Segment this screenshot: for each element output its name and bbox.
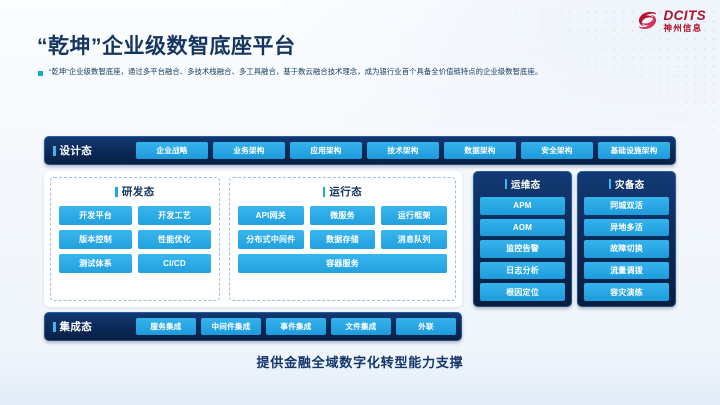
runtime-panel-grid: API网关 微服务 运行框架 分布式中间件 数据存储 消息队列: [238, 206, 447, 249]
dev-panel-header: 研发态: [59, 184, 211, 199]
slide-canvas: DCITS 神州信息 “乾坤”企业级数智底座平台 “乾坤”企业级数智底座，通过多…: [0, 0, 720, 405]
dev-cell[interactable]: 测试体系: [59, 254, 132, 273]
accent-tick-icon: [115, 187, 118, 197]
integration-chip[interactable]: 外联: [396, 318, 456, 335]
runtime-panel-header: 运行态: [238, 184, 447, 199]
dcits-swirl-icon: [636, 9, 659, 32]
dev-cell[interactable]: 开发工艺: [138, 206, 211, 225]
ops-panel-header: 运维态: [480, 177, 565, 191]
ops-item[interactable]: 日志分析: [480, 262, 565, 280]
disaster-recovery-panel: 灾备态 同城双活 异地多活 故障切换 流量调拨 容灾演练: [577, 171, 676, 307]
design-chip[interactable]: 应用架构: [290, 142, 362, 159]
design-chip[interactable]: 企业战略: [136, 142, 208, 159]
ops-item[interactable]: 根因定位: [480, 283, 565, 301]
ops-panel-title: 运维态: [511, 177, 540, 191]
accent-tick-icon: [323, 187, 326, 197]
dev-cell[interactable]: 版本控制: [59, 230, 132, 249]
design-chip[interactable]: 基础设施架构: [598, 142, 670, 159]
page-title: “乾坤”企业级数智底座平台: [37, 30, 296, 60]
disaster-recovery-panel-header: 灾备态: [584, 177, 669, 191]
design-layer-row: 设计态 企业战略 业务架构 应用架构 技术架构 数据架构 安全架构 基础设施架构: [44, 136, 676, 165]
dev-panel-title: 研发态: [122, 184, 155, 199]
disaster-recovery-list: 同城双活 异地多活 故障切换 流量调拨 容灾演练: [584, 197, 669, 301]
dev-panel-grid: 开发平台 开发工艺 版本控制 性能优化 测试体系 CI/CD: [59, 206, 211, 273]
ops-panel-list: APM AOM 监控告警 日志分析 根因定位: [480, 197, 565, 301]
dev-cell[interactable]: 开发平台: [59, 206, 132, 225]
subtitle-text: “乾坤”企业级数智底座，通过多平台融合、多技术栈融合、多工具融合，基于数云融合技…: [49, 67, 542, 77]
square-bullet-icon: [38, 71, 43, 76]
subtitle-row: “乾坤”企业级数智底座，通过多平台融合、多技术栈融合、多工具融合，基于数云融合技…: [38, 67, 686, 77]
runtime-cell-container-service[interactable]: 容器服务: [238, 254, 447, 273]
design-chip[interactable]: 安全架构: [521, 142, 593, 159]
dev-cell[interactable]: CI/CD: [138, 254, 211, 273]
runtime-cell[interactable]: 分布式中间件: [238, 230, 304, 249]
brand-logo: DCITS 神州信息: [636, 9, 707, 32]
ops-item[interactable]: APM: [480, 197, 565, 215]
accent-tick-icon: [609, 179, 612, 189]
ops-item[interactable]: AOM: [480, 219, 565, 237]
integration-layer-row: 集成态 服务集成 中间件集成 事件集成 文件集成 外联: [44, 312, 462, 341]
integration-chip[interactable]: 文件集成: [331, 318, 391, 335]
runtime-cell[interactable]: 运行框架: [381, 206, 447, 225]
disaster-recovery-panel-title: 灾备态: [615, 177, 644, 191]
dr-item[interactable]: 同城双活: [584, 197, 669, 215]
dev-cell[interactable]: 性能优化: [138, 230, 211, 249]
design-layer-label-text: 设计态: [60, 143, 93, 158]
runtime-cell[interactable]: API网关: [238, 206, 304, 225]
logo-text-en: DCITS: [664, 9, 707, 23]
architecture-diagram: 设计态 企业战略 业务架构 应用架构 技术架构 数据架构 安全架构 基础设施架构…: [44, 136, 676, 341]
accent-tick-icon: [53, 146, 56, 156]
footer-tagline: 提供金融全域数字化转型能力支撑: [0, 352, 720, 371]
runtime-cell[interactable]: 数据存储: [310, 230, 376, 249]
design-chip[interactable]: 数据架构: [444, 142, 516, 159]
design-layer-label: 设计态: [53, 143, 131, 158]
dr-item[interactable]: 故障切换: [584, 240, 669, 258]
ops-item[interactable]: 监控告警: [480, 240, 565, 258]
dr-item[interactable]: 容灾演练: [584, 283, 669, 301]
accent-tick-icon: [505, 179, 508, 189]
middle-card: 研发态 开发平台 开发工艺 版本控制 性能优化 测试体系 CI/CD 运行态 A: [44, 171, 462, 307]
integration-chip[interactable]: 服务集成: [136, 318, 196, 335]
accent-tick-icon: [53, 322, 56, 332]
runtime-cell[interactable]: 消息队列: [381, 230, 447, 249]
integration-layer-label: 集成态: [53, 319, 131, 334]
runtime-panel-title: 运行态: [329, 184, 362, 199]
integration-chip[interactable]: 事件集成: [266, 318, 326, 335]
design-chip[interactable]: 业务架构: [213, 142, 285, 159]
integration-chip[interactable]: 中间件集成: [201, 318, 261, 335]
logo-text-cn: 神州信息: [664, 24, 707, 33]
runtime-cell[interactable]: 微服务: [310, 206, 376, 225]
integration-layer-label-text: 集成态: [60, 319, 93, 334]
design-chip[interactable]: 技术架构: [367, 142, 439, 159]
dr-item[interactable]: 流量调拨: [584, 262, 669, 280]
dr-item[interactable]: 异地多活: [584, 219, 669, 237]
dev-panel: 研发态 开发平台 开发工艺 版本控制 性能优化 测试体系 CI/CD: [50, 177, 220, 301]
ops-panel: 运维态 APM AOM 监控告警 日志分析 根因定位: [473, 171, 572, 307]
runtime-panel: 运行态 API网关 微服务 运行框架 分布式中间件 数据存储 消息队列 容器服务: [229, 177, 456, 301]
